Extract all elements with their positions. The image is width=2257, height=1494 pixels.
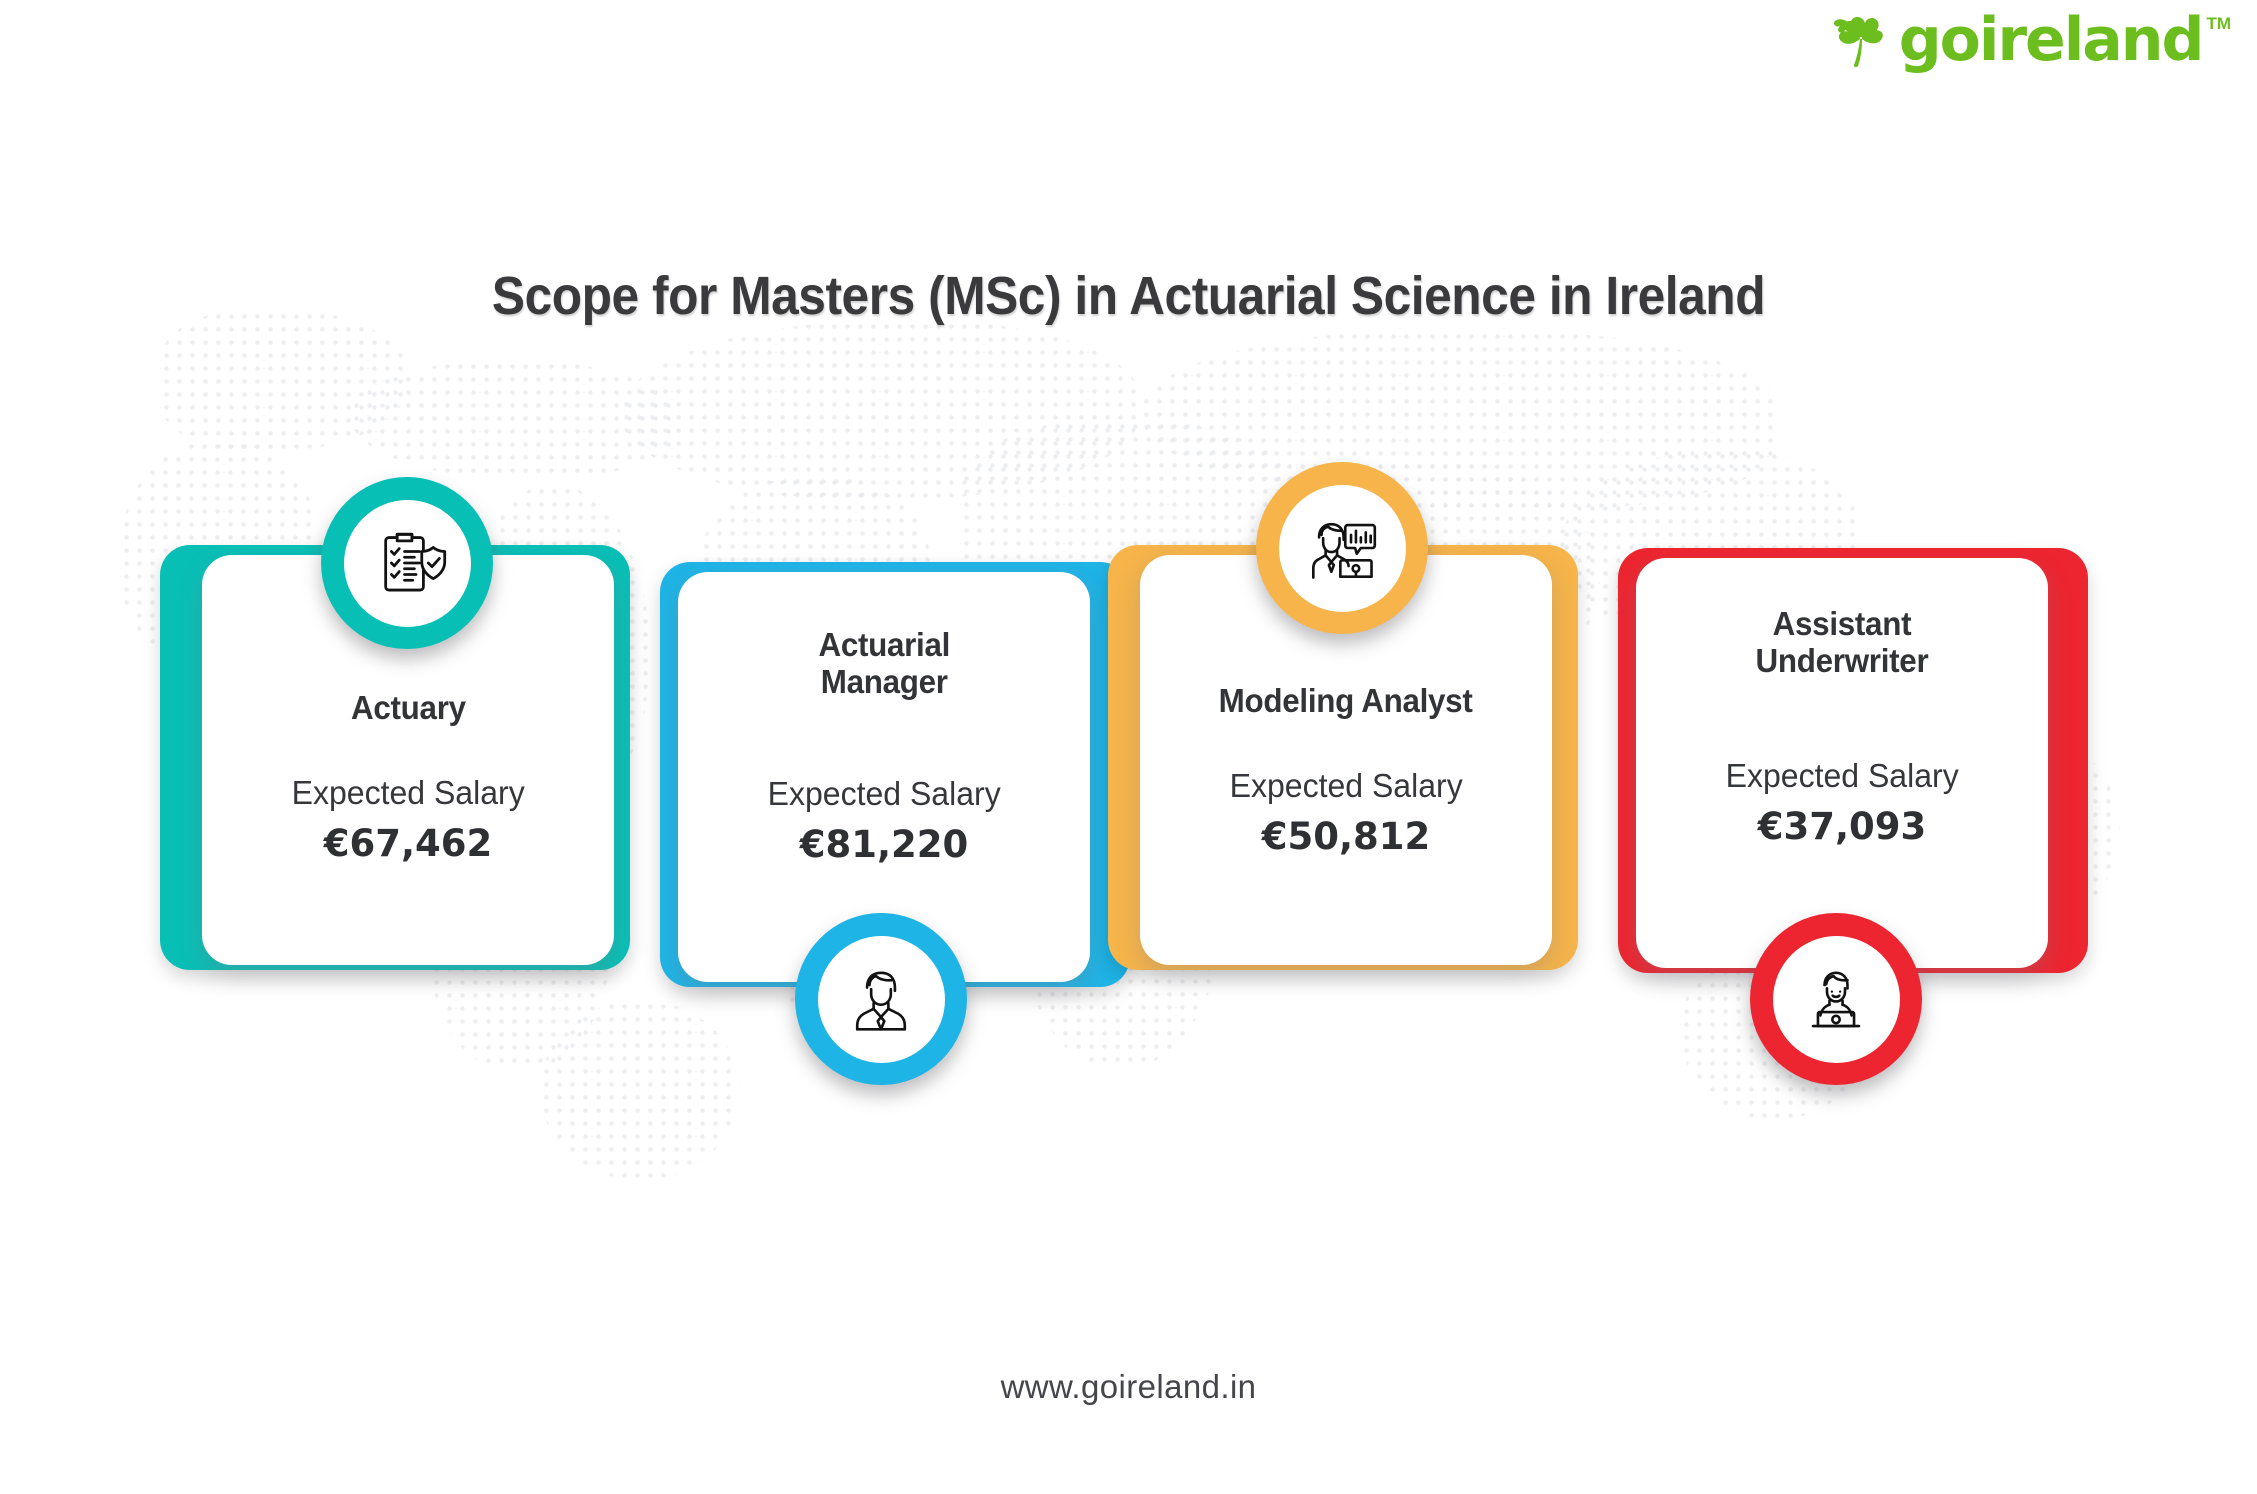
card-title: Modeling Analyst xyxy=(1219,683,1473,720)
card-actuary[interactable]: Actuary Expected Salary €67,462 xyxy=(160,0,630,1494)
card-title: Actuary xyxy=(351,690,466,727)
clipboard-shield-icon xyxy=(366,522,448,604)
analyst-chart-icon xyxy=(1301,507,1383,589)
card-body[interactable]: Assistant Underwriter Expected Salary €3… xyxy=(1636,558,2048,968)
card-title: Actuarial Manager xyxy=(818,627,950,701)
cards-strip: Actuary Expected Salary €67,462 xyxy=(0,0,2257,1494)
card-salary-value: €50,812 xyxy=(1262,814,1431,860)
card-title-line2: Underwriter xyxy=(1756,642,1929,679)
card-salary-value: €81,220 xyxy=(800,822,969,868)
card-salary-label: Expected Salary xyxy=(291,775,524,811)
card-title-line1: Actuarial xyxy=(818,626,950,663)
icon-badge-businessman xyxy=(795,913,967,1085)
card-assistant-underwriter[interactable]: Assistant Underwriter Expected Salary €3… xyxy=(1588,0,2058,1494)
badge-inner xyxy=(1279,485,1406,612)
card-title-line2: Manager xyxy=(821,663,948,700)
badge-inner xyxy=(1773,936,1900,1063)
footer-url[interactable]: www.goireland.in xyxy=(0,1368,2257,1406)
badge-inner xyxy=(344,500,471,627)
card-salary-label: Expected Salary xyxy=(1725,758,1958,794)
person-laptop-icon xyxy=(1795,958,1877,1040)
card-salary-label: Expected Salary xyxy=(767,776,1000,812)
icon-badge-analyst-chart xyxy=(1256,462,1428,634)
card-salary-label: Expected Salary xyxy=(1229,768,1462,804)
icon-badge-clipboard-shield xyxy=(321,477,493,649)
icon-badge-person-laptop xyxy=(1750,913,1922,1085)
card-salary-value: €67,462 xyxy=(324,821,493,867)
card-title-line1: Assistant xyxy=(1773,605,1912,642)
badge-inner xyxy=(818,936,945,1063)
card-modeling-analyst[interactable]: Modeling Analyst Expected Salary €50,812 xyxy=(1108,0,1578,1494)
card-actuarial-manager[interactable]: Actuarial Manager Expected Salary €81,22… xyxy=(630,0,1100,1494)
card-title: Assistant Underwriter xyxy=(1756,606,1929,680)
businessman-icon xyxy=(840,958,922,1040)
card-salary-value: €37,093 xyxy=(1758,804,1927,850)
